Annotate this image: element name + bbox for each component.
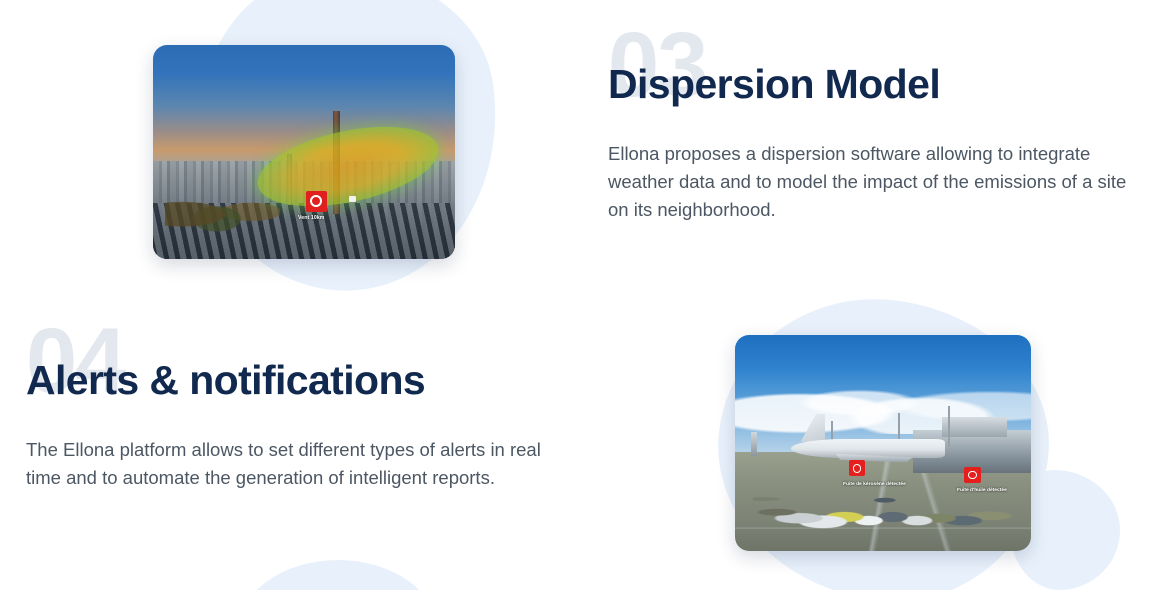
oil-alert-label: Fuite d'huile détectée (957, 488, 1007, 494)
section-03-body: Ellona proposes a dispersion software al… (608, 140, 1148, 224)
dispersion-model-image-card[interactable]: Vent 10km (153, 45, 455, 259)
background-blob-bottom-left (238, 560, 438, 590)
ground-vehicles (753, 469, 1022, 529)
section-04-body: The Ellona platform allows to set differ… (26, 436, 556, 492)
dispersion-photo: Vent 10km (153, 45, 455, 259)
control-tower (751, 432, 757, 456)
aircraft-fuselage (791, 439, 945, 458)
section-04-text: 04 Alerts & notifications The Ellona pla… (26, 326, 586, 511)
kerosene-alert-marker-icon (849, 460, 865, 476)
section-03-text: 03 Dispersion Model Ellona proposes a di… (608, 30, 1156, 243)
alerts-image-card[interactable]: Fuite de kérosène détectée Fuite d'huile… (735, 335, 1031, 551)
section-03-heading: Dispersion Model (608, 63, 1156, 106)
control-deck (942, 417, 1007, 436)
oil-alert-marker-icon (964, 467, 980, 483)
light-mast-icon (948, 406, 950, 447)
sensor-dot-icon (349, 196, 356, 202)
wind-source-marker-icon (306, 191, 327, 212)
wind-distance-label: Vent 10km (298, 215, 325, 221)
kerosene-alert-label: Fuite de kérosène détectée (843, 482, 906, 488)
section-04-heading: Alerts & notifications (26, 359, 586, 402)
page-stage: Vent 10km 03 Dispersion Model Ellona pro… (0, 0, 1160, 590)
airport-photo: Fuite de kérosène détectée Fuite d'huile… (735, 335, 1031, 551)
